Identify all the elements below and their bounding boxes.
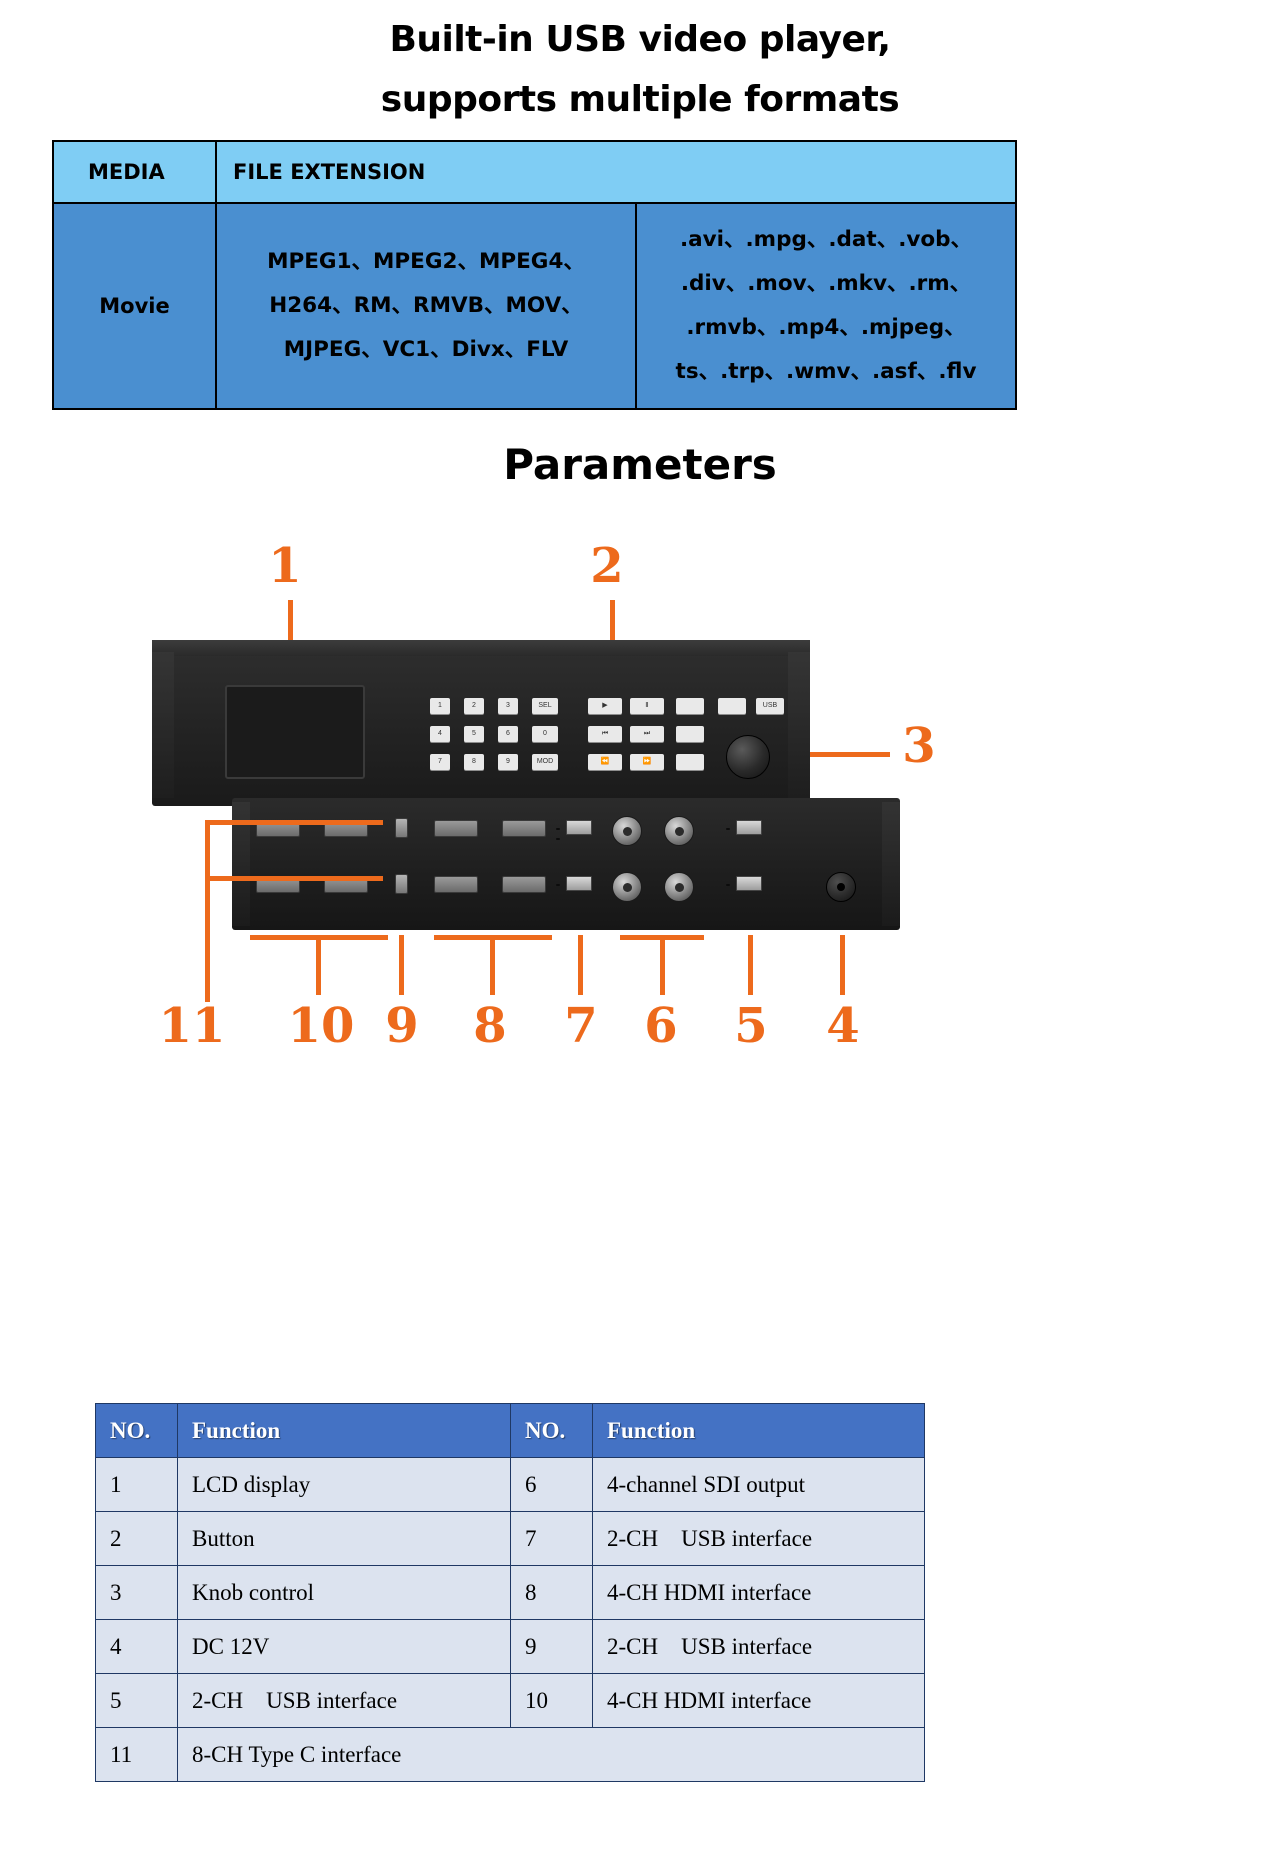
extension-line: ts、.trp、.wmv、.asf、.flv [637, 350, 1015, 394]
usb-port [736, 820, 762, 835]
key-blank-b[interactable] [676, 726, 704, 742]
param-no-left: 3 [96, 1566, 178, 1620]
device-front-bevel [152, 640, 810, 656]
param-func-last: 8-CH Type C interface [178, 1728, 925, 1782]
key-5[interactable]: 5 [464, 726, 484, 742]
vent-hole [556, 884, 560, 886]
usb-port [566, 820, 592, 835]
param-header-func-left: Function [178, 1404, 511, 1458]
param-header-func-right: Function [593, 1404, 925, 1458]
media-table-header-media: MEDIA [53, 141, 216, 203]
media-table-cell-extensions: .avi、.mpg、.dat、.vob、 .div、.mov、.mkv、.rm、… [636, 203, 1016, 409]
sdi-bnc-port [664, 872, 694, 902]
lcd-display [225, 685, 365, 779]
key-fastforward[interactable]: ⏩ [630, 754, 664, 770]
media-table-row: Movie MPEG1、MPEG2、MPEG4、 H264、RM、RMVB、MO… [53, 203, 1016, 409]
rear-ear-right [882, 802, 900, 926]
media-table-header-file-extension: FILE EXTENSION [216, 141, 1016, 203]
callout-6: 6 [638, 1002, 684, 1050]
param-func-right: 2-CH USB interface [593, 1512, 925, 1566]
param-no-right: 6 [511, 1458, 593, 1512]
param-no-left: 4 [96, 1620, 178, 1674]
callout-4: 4 [820, 1002, 866, 1050]
callout-3: 3 [896, 722, 942, 770]
key-0[interactable]: 0 [532, 726, 558, 742]
leader-line-6 [660, 935, 665, 995]
page-title: Built-in USB video player, supports mult… [0, 0, 1280, 130]
callout-2: 2 [584, 542, 630, 590]
key-8[interactable]: 8 [464, 754, 484, 770]
param-no-right: 10 [511, 1674, 593, 1728]
key-prev[interactable]: ⏮ [588, 726, 622, 742]
extension-line: .div、.mov、.mkv、.rm、 [637, 262, 1015, 306]
table-row: 2 Button 7 2-CH USB interface [96, 1512, 925, 1566]
param-table-header-row: NO. Function NO. Function [96, 1404, 925, 1458]
hdmi-port [434, 820, 478, 837]
key-3[interactable]: 3 [498, 698, 518, 714]
param-no-last: 11 [96, 1728, 178, 1782]
callout-11: 11 [150, 1002, 234, 1050]
table-row: 3 Knob control 8 4-CH HDMI interface [96, 1566, 925, 1620]
key-next[interactable]: ⏭ [630, 726, 664, 742]
key-6[interactable]: 6 [498, 726, 518, 742]
media-format-table: MEDIA FILE EXTENSION Movie MPEG1、MPEG2、M… [52, 140, 1017, 410]
typec-port [395, 818, 408, 838]
key-pause[interactable]: Ⅱ [630, 698, 664, 714]
extension-line: .rmvb、.mp4、.mjpeg、 [637, 306, 1015, 350]
param-no-right: 7 [511, 1512, 593, 1566]
rack-ear-right [788, 652, 810, 798]
key-1[interactable]: 1 [430, 698, 450, 714]
vent-hole [556, 838, 560, 840]
title-line-2: supports multiple formats [0, 70, 1280, 130]
callout-1: 1 [262, 542, 308, 590]
table-row: 1 LCD display 6 4-channel SDI output [96, 1458, 925, 1512]
param-func-left: LCD display [178, 1458, 511, 1512]
codec-line: MPEG1、MPEG2、MPEG4、 [217, 240, 635, 284]
extension-line: .avi、.mpg、.dat、.vob、 [637, 218, 1015, 262]
param-func-left: Knob control [178, 1566, 511, 1620]
media-table-cell-media: Movie [53, 203, 216, 409]
media-table-header-row: MEDIA FILE EXTENSION [53, 141, 1016, 203]
sdi-bnc-port [612, 872, 642, 902]
hdmi-port [434, 876, 478, 893]
leader-line-8 [490, 935, 495, 995]
callout-9: 9 [379, 1002, 425, 1050]
callout-10: 10 [286, 1002, 356, 1050]
key-blank-d[interactable] [718, 698, 746, 714]
key-mod[interactable]: MOD [532, 754, 558, 770]
param-func-right: 4-channel SDI output [593, 1458, 925, 1512]
key-usb[interactable]: USB [756, 698, 784, 714]
codec-line: H264、RM、RMVB、MOV、 [217, 284, 635, 328]
hdmi-port [502, 876, 546, 893]
param-no-left: 2 [96, 1512, 178, 1566]
param-no-right: 9 [511, 1620, 593, 1674]
table-row: 5 2-CH USB interface 10 4-CH HDMI interf… [96, 1674, 925, 1728]
sdi-bnc-port [664, 816, 694, 846]
rack-ear-left [152, 652, 174, 798]
key-play[interactable]: ▶ [588, 698, 622, 714]
parameters-heading: Parameters [0, 440, 1280, 489]
param-func-right: 4-CH HDMI interface [593, 1674, 925, 1728]
param-no-left: 1 [96, 1458, 178, 1512]
param-no-left: 5 [96, 1674, 178, 1728]
vent-hole [726, 884, 730, 886]
param-func-right: 4-CH HDMI interface [593, 1566, 925, 1620]
table-row-last: 11 8-CH Type C interface [96, 1728, 925, 1782]
dc-power-jack [826, 872, 856, 902]
media-table-cell-codecs: MPEG1、MPEG2、MPEG4、 H264、RM、RMVB、MOV、 MJP… [216, 203, 636, 409]
callout-5: 5 [728, 1002, 774, 1050]
param-func-right: 2-CH USB interface [593, 1620, 925, 1674]
key-blank-c[interactable] [676, 754, 704, 770]
param-header-no-left: NO. [96, 1404, 178, 1458]
leader-line-11-branch-b [205, 876, 383, 881]
parameters-table: NO. Function NO. Function 1 LCD display … [95, 1403, 925, 1782]
leader-line-5 [748, 935, 753, 995]
leader-line-7 [578, 935, 583, 995]
sdi-bnc-port [612, 816, 642, 846]
leader-line-11 [205, 820, 210, 1002]
leader-line-9 [399, 935, 404, 995]
hdmi-port [502, 820, 546, 837]
key-4[interactable]: 4 [430, 726, 450, 742]
param-func-left: 2-CH USB interface [178, 1674, 511, 1728]
callout-7: 7 [558, 1002, 604, 1050]
title-line-1: Built-in USB video player, [0, 10, 1280, 70]
device-diagram: 1 2 3 1 2 3 SEL 4 5 6 0 7 8 9 MOD ▶ Ⅱ ⏮ … [0, 520, 1280, 1100]
vent-hole [556, 828, 560, 830]
usb-port [566, 876, 592, 891]
typec-port [395, 874, 408, 894]
knob-control[interactable] [726, 735, 770, 779]
leader-line-4 [840, 935, 845, 995]
key-blank-a[interactable] [676, 698, 704, 714]
usb-port [736, 876, 762, 891]
key-9[interactable]: 9 [498, 754, 518, 770]
leader-line-10 [316, 935, 321, 995]
codec-line: MJPEG、VC1、Divx、FLV [217, 328, 635, 372]
key-rewind[interactable]: ⏪ [588, 754, 622, 770]
key-2[interactable]: 2 [464, 698, 484, 714]
param-func-left: DC 12V [178, 1620, 511, 1674]
param-func-left: Button [178, 1512, 511, 1566]
param-no-right: 8 [511, 1566, 593, 1620]
param-header-no-right: NO. [511, 1404, 593, 1458]
leader-line-11-branch-a [205, 820, 383, 825]
table-row: 4 DC 12V 9 2-CH USB interface [96, 1620, 925, 1674]
key-sel[interactable]: SEL [532, 698, 558, 714]
key-7[interactable]: 7 [430, 754, 450, 770]
vent-hole [726, 828, 730, 830]
device-rear-chassis [232, 798, 900, 930]
callout-8: 8 [467, 1002, 513, 1050]
